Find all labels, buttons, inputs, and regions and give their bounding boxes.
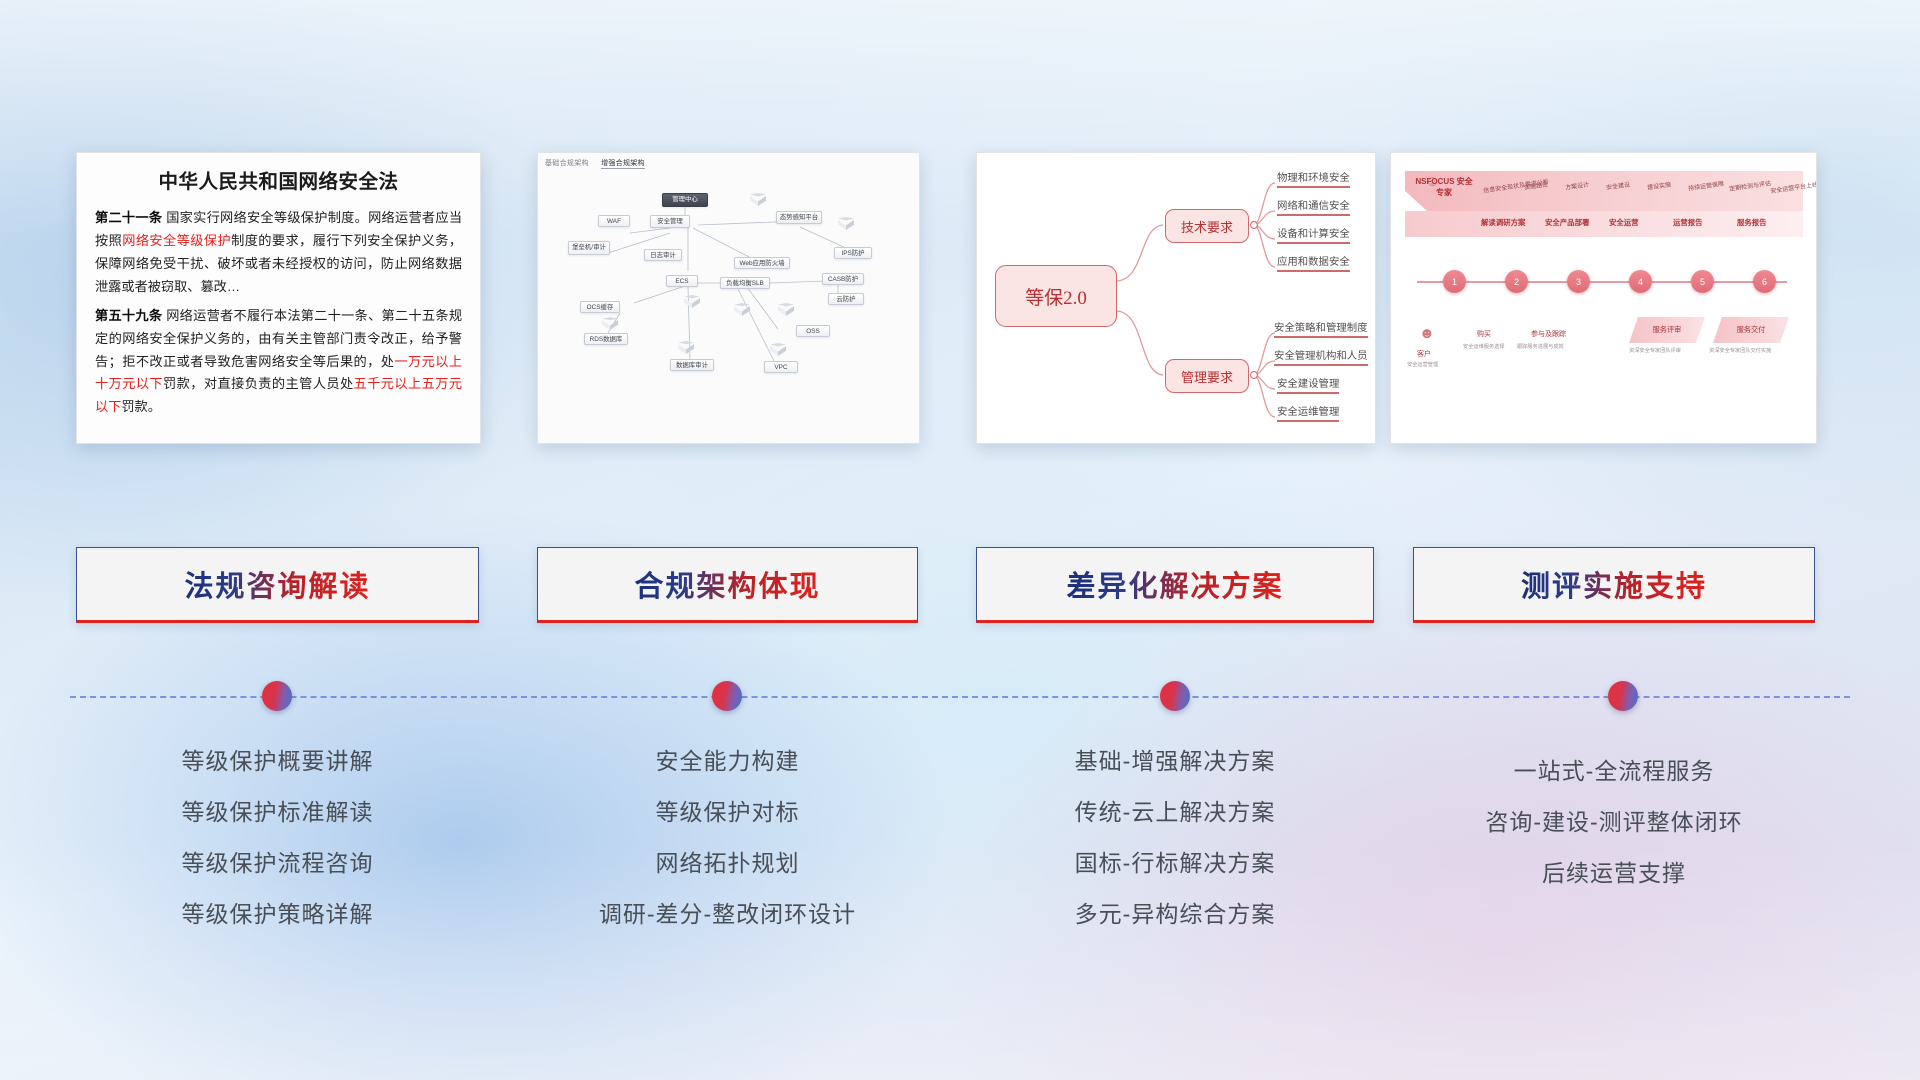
banner-legal-consulting[interactable]: 法规咨询解读 xyxy=(76,547,479,623)
service-review-shape: 服务评审 xyxy=(1629,317,1705,343)
mindmap-leaf: 安全管理机构和人员 xyxy=(1274,347,1368,366)
feature-list-item: 网络拓扑规划 xyxy=(537,852,918,875)
nsfocus-timeline-diagram: ☺ NSFOCUS 安全专家 信息安全现状及需求分析实施路径方案设计安全建设建设… xyxy=(1391,153,1816,443)
feature-list-item: 国标-行标解决方案 xyxy=(976,852,1374,875)
feature-list-item: 等级保护概要讲解 xyxy=(76,750,479,773)
feature-list-compliance-architecture: 安全能力构建等级保护对标网络拓扑规划调研-差分-整改闭环设计 xyxy=(537,750,918,954)
service-review-sub: 资深安全专家团队评审 xyxy=(1629,347,1681,354)
feature-list-differentiated-solution: 基础-增强解决方案传统-云上解决方案国标-行标解决方案多元-异构综合方案 xyxy=(976,750,1374,954)
mindmap-root-node: 等保2.0 xyxy=(995,265,1117,327)
mindmap-leaf: 设备和计算安全 xyxy=(1277,225,1350,244)
legend-item-title: 购买 xyxy=(1477,329,1491,339)
nsfocus-column-tag: 运营报告 xyxy=(1673,217,1703,228)
architecture-node: OSS xyxy=(796,325,830,337)
timeline-dashed-line xyxy=(70,696,1850,698)
timeline-axis xyxy=(1417,281,1787,283)
law-document: 中华人民共和国网络安全法 第二十一条 国家实行网络安全等级保护制度。网络运营者应… xyxy=(77,153,480,443)
cube-icon xyxy=(684,295,700,308)
feature-list-item: 等级保护标准解读 xyxy=(76,801,479,824)
thumbnail-card-law[interactable]: 中华人民共和国网络安全法 第二十一条 国家实行网络安全等级保护制度。网络运营者应… xyxy=(76,152,481,444)
mindmap-diagram: 等保2.0 技术要求 管理要求 物理和环境安全 网络和通信安全 设备和计算安全 … xyxy=(977,153,1375,443)
banner-label: 合规架构体现 xyxy=(634,563,820,605)
mindmap-branch-management: 管理要求 xyxy=(1165,359,1249,393)
architecture-node: 云防护 xyxy=(828,293,864,305)
legend-left-sub: 安全运营管理 xyxy=(1407,361,1438,368)
nsfocus-step-marker: 1 xyxy=(1443,270,1466,293)
architecture-node: 日志审计 xyxy=(644,249,682,261)
architecture-diagram: 基础合规架构 增强合规架构 xyxy=(538,153,919,443)
banner-assessment-support[interactable]: 测评实施支持 xyxy=(1413,547,1815,623)
mindmap-branch-technical: 技术要求 xyxy=(1165,209,1249,243)
nsfocus-step-marker: 4 xyxy=(1629,270,1652,293)
nsfocus-column-tag: 安全运营 xyxy=(1609,217,1639,228)
mindmap-leaf: 应用和数据安全 xyxy=(1277,253,1350,272)
cube-icon xyxy=(734,303,750,316)
architecture-node: 安全管理 xyxy=(650,215,690,228)
nsfocus-column-tag: 解读调研方案 xyxy=(1481,217,1525,228)
law-title: 中华人民共和国网络安全法 xyxy=(95,171,462,194)
architecture-node: ECS xyxy=(666,275,698,287)
article-59-text-3: 罚款。 xyxy=(121,399,161,414)
architecture-node: 负载均衡SLB xyxy=(720,277,770,289)
feature-list-item: 传统-云上解决方案 xyxy=(976,801,1374,824)
timeline-dot xyxy=(1608,681,1638,711)
cube-icon xyxy=(770,343,786,356)
cube-icon xyxy=(602,317,618,330)
architecture-node: 态势感知平台 xyxy=(776,211,822,224)
nsfocus-step-marker: 5 xyxy=(1691,270,1714,293)
architecture-node: RDS数据库 xyxy=(584,333,628,345)
feature-list-legal-consulting: 等级保护概要讲解等级保护标准解读等级保护流程咨询等级保护策略详解 xyxy=(76,750,479,954)
mindmap-leaf: 物理和环境安全 xyxy=(1277,169,1350,188)
architecture-node: 堡垒机/审计 xyxy=(568,241,610,255)
article-21-label: 第二十一条 xyxy=(95,210,162,225)
service-delivery-shape: 服务交付 xyxy=(1713,317,1789,343)
banner-label: 法规咨询解读 xyxy=(184,563,370,605)
article-21-highlight: 网络安全等级保护 xyxy=(122,233,231,248)
timeline-dot xyxy=(712,681,742,711)
feature-list-item: 等级保护流程咨询 xyxy=(76,852,479,875)
feature-list-item: 安全能力构建 xyxy=(537,750,918,773)
law-article-59: 第五十九条 网络运营者不履行本法第二十一条、第二十五条规定的网络安全保护义务的，… xyxy=(95,305,462,419)
banner-label: 测评实施支持 xyxy=(1521,563,1707,605)
legend-left-title: 客户 xyxy=(1417,349,1431,359)
nsfocus-step-marker: 2 xyxy=(1505,270,1528,293)
cube-icon xyxy=(778,303,794,316)
architecture-node: IPS防护 xyxy=(834,247,872,259)
feature-list-item: 基础-增强解决方案 xyxy=(976,750,1374,773)
legend-item-title: 参与及跟踪 xyxy=(1531,329,1566,339)
nsfocus-brand-label: NSFOCUS 安全专家 xyxy=(1413,177,1475,199)
feature-list-item: 调研-差分-整改闭环设计 xyxy=(537,903,918,926)
timeline-dot xyxy=(1160,681,1190,711)
architecture-node: 管理中心 xyxy=(662,193,708,207)
nsfocus-column-tag: 安全产品部署 xyxy=(1545,217,1589,228)
architecture-node: OCS缓存 xyxy=(580,301,620,313)
legend-item-sub: 安全运维服务选择 xyxy=(1463,343,1505,350)
architecture-node: Web应用防火墙 xyxy=(734,257,790,269)
nsfocus-step-marker: 6 xyxy=(1753,270,1776,293)
legend-item-sub: 跟踪服务进展与成效 xyxy=(1517,343,1564,350)
mindmap-leaf: 安全策略和管理制度 xyxy=(1274,319,1368,338)
banner-compliance-architecture[interactable]: 合规架构体现 xyxy=(537,547,918,623)
architecture-node: 数据库审计 xyxy=(670,359,714,371)
cube-icon xyxy=(750,193,766,206)
mindmap-leaf: 安全运维管理 xyxy=(1277,403,1339,422)
nsfocus-column-tag: 服务报告 xyxy=(1737,217,1767,228)
banner-label: 差异化解决方案 xyxy=(1066,563,1283,605)
article-59-label: 第五十九条 xyxy=(95,308,162,323)
feature-list-item: 多元-异构综合方案 xyxy=(976,903,1374,926)
thumbnail-card-nsfocus[interactable]: ☺ NSFOCUS 安全专家 信息安全现状及需求分析实施路径方案设计安全建设建设… xyxy=(1390,152,1817,444)
service-delivery-sub: 资深安全专家团队交付实施 xyxy=(1709,347,1771,354)
feature-list-item: 咨询-建设-测评整体闭环 xyxy=(1413,811,1815,834)
cube-icon xyxy=(678,341,694,354)
law-article-21: 第二十一条 国家实行网络安全等级保护制度。网络运营者应当按照网络安全等级保护制度… xyxy=(95,207,462,298)
feature-list-item: 一站式-全流程服务 xyxy=(1413,760,1815,783)
banner-differentiated-solution[interactable]: 差异化解决方案 xyxy=(976,547,1374,623)
feature-list-assessment-support: 一站式-全流程服务咨询-建设-测评整体闭环后续运营支撑 xyxy=(1413,760,1815,913)
mindmap-leaf: 网络和通信安全 xyxy=(1277,197,1350,216)
timeline-dot xyxy=(262,681,292,711)
thumbnail-card-mindmap[interactable]: 等保2.0 技术要求 管理要求 物理和环境安全 网络和通信安全 设备和计算安全 … xyxy=(976,152,1376,444)
feature-list-item: 等级保护对标 xyxy=(537,801,918,824)
feature-list-item: 等级保护策略详解 xyxy=(76,903,479,926)
customer-icon: ☻ xyxy=(1419,325,1435,342)
mindmap-leaf: 安全建设管理 xyxy=(1277,375,1339,394)
architecture-node: CASB防护 xyxy=(822,273,864,285)
feature-list-item: 后续运营支撑 xyxy=(1413,862,1815,885)
cube-icon xyxy=(838,217,854,230)
nsfocus-step-marker: 3 xyxy=(1567,270,1590,293)
architecture-node: VPC xyxy=(764,361,798,373)
slide-stage: 中华人民共和国网络安全法 第二十一条 国家实行网络安全等级保护制度。网络运营者应… xyxy=(0,0,1920,1080)
article-59-text-2: 罚款，对直接负责的主管人员处 xyxy=(163,376,354,391)
architecture-node: WAF xyxy=(598,215,630,227)
thumbnail-card-architecture[interactable]: 基础合规架构 增强合规架构 xyxy=(537,152,920,444)
